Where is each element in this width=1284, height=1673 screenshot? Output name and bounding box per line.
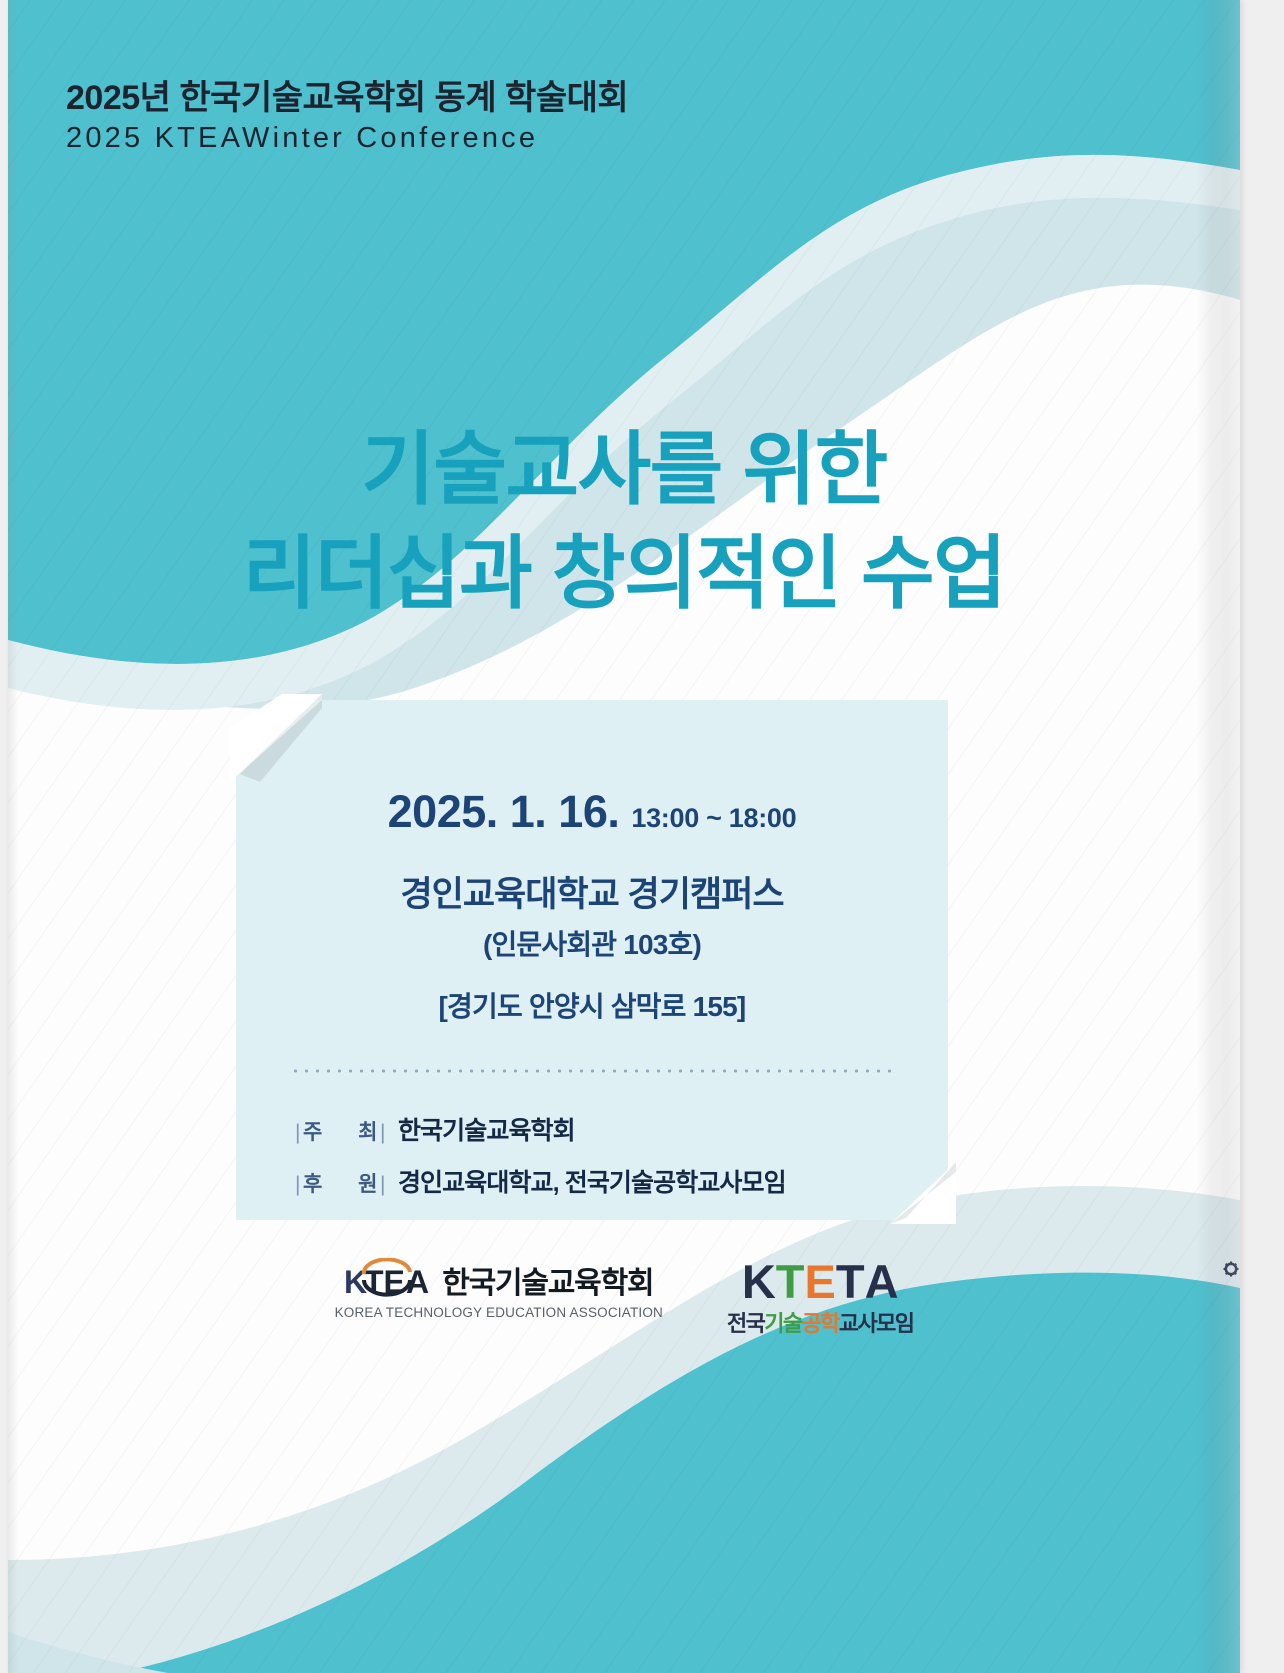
logo-strip: K TE A 한국기술교육학회 KOREA TECHNOLOGY EDUCATI… <box>8 1258 1240 1338</box>
kteta-subtitle-part-2: 기술 <box>764 1311 801 1336</box>
ktea-logo-row: K TE A 한국기술교육학회 <box>344 1258 653 1302</box>
organizer-sponsor-label-right: 원 <box>358 1173 377 1196</box>
organizer-row-sponsor: | 후 원 | 경인교육대학교, 전국기술공학교사모임 <box>292 1163 948 1199</box>
kteta-logo: K T E T A <box>727 1258 913 1338</box>
kteta-subtitle-part-4: 교사모임 <box>839 1311 914 1336</box>
ktea-logo: K TE A 한국기술교육학회 KOREA TECHNOLOGY EDUCATI… <box>335 1258 663 1320</box>
main-title-line-2: 리더십과 창의적인 수업 <box>8 522 1240 626</box>
kteta-letter-t2: T <box>836 1258 865 1305</box>
kteta-korean-subtitle: 전국기술공학교사모임 <box>727 1306 913 1338</box>
event-date: 2025. 1. 16. <box>388 786 620 838</box>
kteta-letter-k: K <box>742 1258 776 1305</box>
event-date-row: 2025. 1. 16. 13:00 ~ 18:00 <box>236 786 948 838</box>
conference-poster: 2025년 한국기술교육학회 동계 학술대회 2025 KTEAWinter C… <box>0 0 1284 1673</box>
kteta-letter-e: E <box>805 1258 836 1305</box>
gear-icon <box>1223 1261 1239 1277</box>
header-korean-title: 2025년 한국기술교육학회 동계 학술대회 <box>66 78 628 118</box>
event-address: [경기도 안양시 삼막로 155] <box>236 985 948 1025</box>
event-info-content: 2025. 1. 16. 13:00 ~ 18:00 경인교육대학교 경기캠퍼스… <box>236 700 948 1220</box>
poster-header: 2025년 한국기술교육학회 동계 학술대회 2025 KTEAWinter C… <box>66 78 628 156</box>
organizer-row-host: | 주 최 | 한국기술교육학회 <box>292 1111 948 1147</box>
event-room: (인문사회관 103호) <box>236 923 948 963</box>
ktea-korean-name: 한국기술교육학회 <box>442 1258 653 1302</box>
kteta-subtitle-part-3: 공학 <box>802 1311 839 1336</box>
kteta-letter-t1: T <box>776 1258 805 1305</box>
organizer-sponsor-label-left: 후 <box>303 1173 322 1196</box>
kteta-subtitle-part-1: 전국 <box>727 1311 764 1336</box>
kteta-wordmark: K T E T A <box>742 1258 899 1305</box>
header-english-title: 2025 KTEAWinter Conference <box>66 120 628 156</box>
organizer-label-host: | 주 최 | <box>292 1116 388 1146</box>
organizer-host-value: 한국기술교육학회 <box>398 1111 575 1147</box>
organizer-list: | 주 최 | 한국기술교육학회 | 후 원 <box>236 1111 948 1199</box>
event-venue: 경인교육대학교 경기캠퍼스 <box>236 866 948 917</box>
ktea-english-subtitle: KOREA TECHNOLOGY EDUCATION ASSOCIATION <box>335 1305 663 1320</box>
event-time: 13:00 ~ 18:00 <box>631 803 796 834</box>
organizer-label-sponsor: | 후 원 | <box>292 1168 388 1198</box>
organizer-host-label-left: 주 <box>303 1121 322 1144</box>
dotted-divider <box>290 1069 894 1073</box>
organizer-sponsor-value: 경인교육대학교, 전국기술공학교사모임 <box>398 1163 786 1199</box>
main-title-line-1: 기술교사를 위한 <box>8 418 1240 522</box>
kteta-letter-a: A <box>865 1258 899 1305</box>
poster-page: 2025년 한국기술교육학회 동계 학술대회 2025 KTEAWinter C… <box>8 0 1240 1673</box>
main-title: 기술교사를 위한 리더십과 창의적인 수업 <box>8 418 1240 626</box>
organizer-host-label-right: 최 <box>358 1121 377 1144</box>
ktea-swoosh-icon: K TE A <box>344 1258 430 1302</box>
